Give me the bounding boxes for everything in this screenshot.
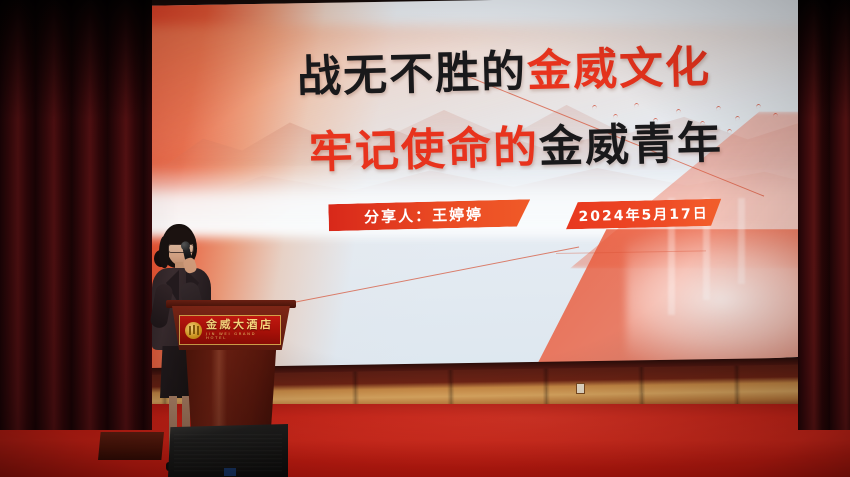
podium-sign-chinese: 金威大酒店	[206, 319, 275, 330]
presenter-hair-side	[159, 236, 169, 268]
podium-sign-english: JIN WEI GRAND HOTEL	[206, 333, 278, 341]
stage-step	[98, 432, 164, 460]
podium-front-face: 金威大酒店 JIN WEI GRAND HOTEL	[172, 306, 290, 350]
slide-title-2-red: 牢记使命的	[308, 122, 539, 179]
slide-presenter-banner: 分享人：王婷婷	[328, 199, 531, 231]
curtain-left-top-shadow	[0, 0, 152, 120]
slide-title-1-red: 金威文化	[526, 42, 711, 97]
slide-date-banner: 2024年5月17日	[565, 199, 722, 230]
conference-stage-scene: 战无不胜的金威文化 牢记使命的金威青年 分享人：王婷婷 2024年5月17日	[0, 0, 850, 477]
slide-title-line-1: 战无不胜的金威文化	[296, 31, 711, 105]
slide-title-line-2: 牢记使命的金威青年	[308, 107, 723, 181]
podium-sign: 金威大酒店 JIN WEI GRAND HOTEL	[179, 315, 281, 345]
slide-title-2-dark: 金威青年	[538, 118, 723, 173]
hotel-emblem-icon	[185, 322, 202, 339]
podium: 金威大酒店 JIN WEI GRAND HOTEL	[172, 300, 290, 440]
stage-monitor-wedge	[168, 424, 288, 477]
monitor-indicator-light	[224, 468, 236, 476]
podium-sign-text: 金威大酒店 JIN WEI GRAND HOTEL	[206, 319, 275, 340]
stage-curtain-left	[0, 0, 152, 430]
wall-outlet-icon	[576, 383, 585, 394]
curtain-right-top-shadow	[798, 0, 850, 120]
stage-curtain-right	[798, 0, 850, 430]
slide-title-1-dark: 战无不胜的	[297, 46, 528, 103]
